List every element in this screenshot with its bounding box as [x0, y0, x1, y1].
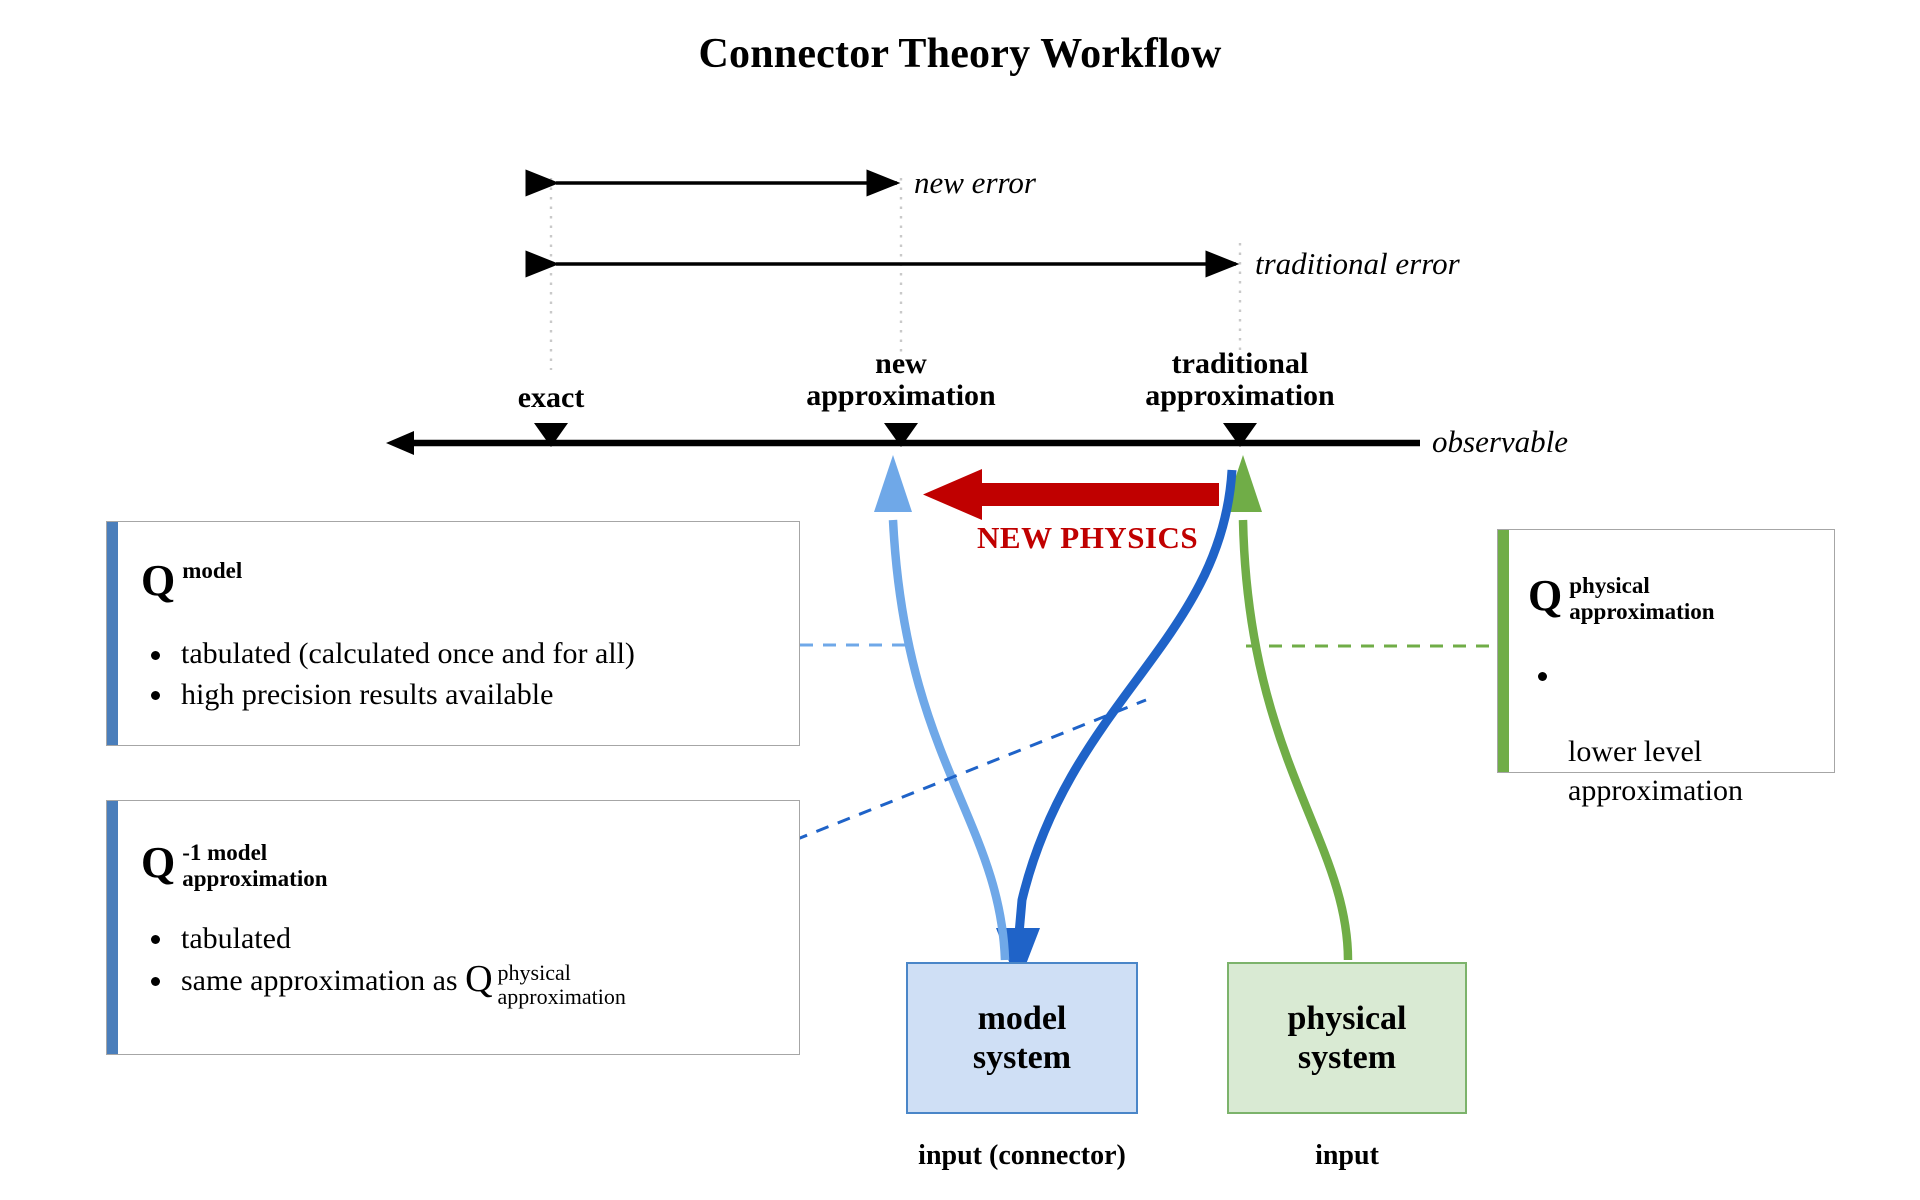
q-superscript: model: [182, 558, 242, 584]
diagram-canvas: Connector Theory Workflow: [0, 0, 1920, 1200]
q-inverse-heading: Q -1 model approximation: [141, 843, 785, 892]
card-accent-bar: [107, 522, 118, 745]
bullet-dot: [151, 651, 160, 660]
list-item: tabulated (calculated once and for all): [141, 635, 785, 673]
green-flow-arrow: [1224, 455, 1348, 960]
q-inverse-bullets: tabulated same approximation as Q physic…: [141, 920, 785, 1010]
list-item: tabulated: [141, 920, 785, 958]
axis-label-exact: exact: [451, 382, 651, 414]
q-model-bullets: tabulated (calculated once and for all) …: [141, 635, 785, 714]
marker-new-approximation: [884, 423, 918, 447]
axis-label-traditional-approximation: traditional approximation: [1100, 348, 1380, 411]
bullet-dot: [151, 691, 160, 700]
inline-q-physical-approximation: Q physical approximation: [465, 962, 626, 1009]
card-accent-bar: [1498, 530, 1509, 772]
list-item: same approximation as Q physical approxi…: [141, 962, 785, 1009]
axis-label-new-approximation: new approximation: [761, 348, 1041, 411]
connector-q-inverse: [795, 700, 1146, 840]
card-q-physical-approximation: Q physical approximation lower level app…: [1497, 529, 1835, 773]
card-accent-bar: [107, 801, 118, 1054]
q-symbol: Q: [465, 962, 492, 996]
marker-traditional-approximation: [1223, 423, 1257, 447]
dashed-connectors: [795, 645, 1498, 840]
q-superscript: physical approximation: [1569, 573, 1714, 625]
q-symbol: Q: [141, 843, 175, 883]
list-item: lower level approximation: [1528, 657, 1822, 811]
q-superscript: physical approximation: [498, 961, 626, 1009]
card-q-inverse-model-approximation: Q -1 model approximation tabulated same …: [106, 800, 800, 1055]
traditional-error-label: traditional error: [1255, 246, 1460, 282]
bullet-dot: [151, 935, 160, 944]
q-symbol: Q: [141, 561, 175, 601]
model-system-box: model system: [906, 962, 1138, 1114]
q-symbol: Q: [1528, 576, 1562, 616]
q-superscript: -1 model approximation: [182, 840, 327, 892]
page-title: Connector Theory Workflow: [0, 30, 1920, 78]
model-system-caption: input (connector): [876, 1140, 1168, 1172]
bullet-dot: [151, 977, 160, 986]
new-error-label: new error: [914, 165, 1036, 201]
guide-lines: [551, 178, 1240, 370]
observable-label: observable: [1432, 424, 1568, 460]
new-physics-arrow: [923, 469, 1219, 520]
new-physics-label: NEW PHYSICS: [977, 520, 1198, 556]
q-physical-heading: Q physical approximation: [1528, 576, 1822, 625]
card-q-model: Q model tabulated (calculated once and f…: [106, 521, 800, 746]
marker-exact: [534, 423, 568, 447]
observable-axis: [386, 423, 1420, 455]
bullet-dot: [1538, 672, 1547, 681]
physical-system-box: physical system: [1227, 962, 1467, 1114]
q-model-heading: Q model: [141, 561, 785, 601]
list-item: high precision results available: [141, 676, 785, 714]
q-physical-bullets: lower level approximation: [1528, 657, 1822, 811]
physical-system-caption: input: [1227, 1140, 1467, 1172]
